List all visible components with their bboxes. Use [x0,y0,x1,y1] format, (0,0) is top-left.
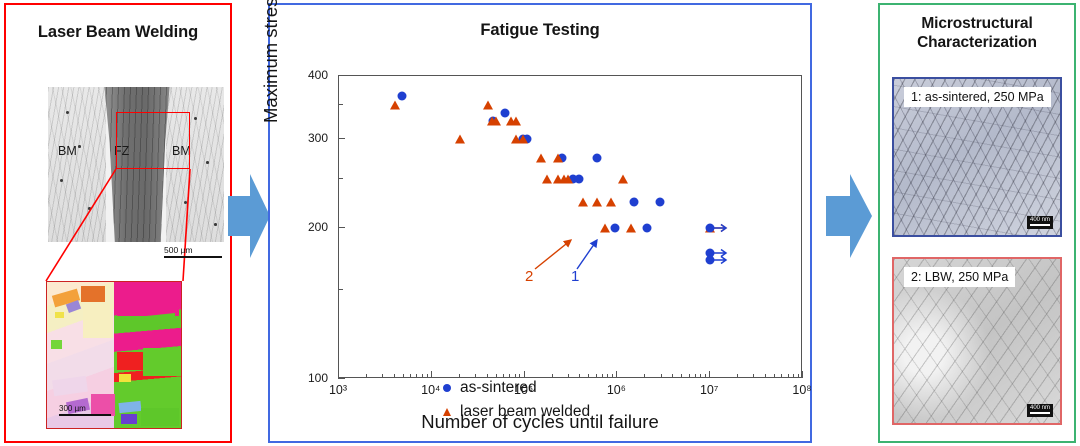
porosity-speck [194,117,197,120]
ebsd-grain [119,374,131,382]
chart-x-tick-minor [793,374,794,378]
chart-point-laser-beam-welded [536,153,546,162]
chart-x-tick-minor [661,374,662,378]
chart-x-tick-minor [612,374,613,378]
panel-title-micro-line1: Microstructural [880,15,1074,34]
tem-caption-1: 1: as-sintered, 250 MPa [904,87,1051,107]
chart-point-laser-beam-welded [606,197,616,206]
chart-x-tick-label: 10⁷ [700,383,718,397]
figure-root: Laser Beam Welding BM FZ BM 500 µm [0,0,1080,446]
chart-y-tick-minor [338,289,343,290]
tem-scale-bar-1: 400 nm [1027,216,1053,229]
chart-x-tick-label: 10⁸ [792,383,811,397]
chart-point-laser-beam-welded [491,117,501,126]
chart-point-as-sintered [643,223,652,232]
chart-y-tick-major [338,75,345,76]
tem-image-as-sintered: 1: as-sintered, 250 MPa 400 nm [892,77,1062,237]
scale-bar-ebsd-label: 300 µm [59,404,86,413]
chart-x-tick-minor [568,374,569,378]
ebsd-grain [83,304,113,338]
chart-x-tick-minor [382,374,383,378]
chart-annotation-arrows [339,76,803,379]
chart-point-as-sintered [592,153,601,162]
chart-x-tick-minor [753,374,754,378]
fatigue-chart: Fatigue Testing Maximum stress [MPa] Num… [268,3,812,443]
porosity-speck [60,179,63,182]
chart-x-tick-major [431,371,432,378]
tem-scale-line-1 [1030,224,1050,226]
chart-annotation-2: 2 [525,268,533,285]
arrow-fatigue-to-micro-icon [826,170,874,262]
chart-y-tick-label: 100 [308,371,328,385]
legend-label-laser-beam-welded: laser beam welded [460,400,590,424]
arrow-lbw-to-fatigue-icon [228,170,272,262]
porosity-speck [214,223,217,226]
scale-bar-ebsd-line [59,414,111,416]
chart-point-laser-beam-welded [592,197,602,206]
chart-y-axis-label: Maximum stress [MPa] [260,0,282,123]
chart-x-tick-minor [672,374,673,378]
ebsd-grain [117,352,143,370]
chart-x-tick-minor [475,374,476,378]
chart-y-tick-minor [338,104,343,105]
chart-x-tick-minor [496,374,497,378]
chart-x-tick-minor [503,374,504,378]
chart-x-tick-minor [681,374,682,378]
chart-x-tick-minor [737,374,738,378]
chart-x-tick-minor [607,374,608,378]
tem-scale-bar-2: 400 nm [1027,404,1053,417]
legend-item-laser-beam-welded: laser beam welded [443,400,590,424]
chart-point-as-sintered [611,223,620,232]
chart-x-tick-major [338,371,339,378]
chart-point-laser-beam-welded [542,174,552,183]
scale-bar-macro: 500 µm [164,245,222,258]
base-metal-left-region [48,87,106,242]
chart-y-tick-major [338,227,345,228]
chart-x-tick-minor [416,374,417,378]
legend-marker-triangle-icon [443,408,451,416]
chart-point-laser-beam-welded [618,174,628,183]
chart-y-tick-label: 300 [308,131,328,145]
chart-point-laser-beam-welded [626,223,636,232]
chart-runout-arrow-icon [711,223,733,233]
scale-bar-macro-line [164,256,222,258]
legend-marker-circle-icon [443,384,451,392]
ebsd-grain [117,382,175,402]
chart-x-tick-minor [394,374,395,378]
chart-point-laser-beam-welded [553,153,563,162]
chart-point-laser-beam-welded [390,101,400,110]
chart-point-as-sintered [575,174,584,183]
scale-bar-ebsd: 300 µm [59,404,111,416]
panel-title-lbw: Laser Beam Welding [6,23,230,42]
chart-x-tick-minor [552,374,553,378]
chart-x-tick-major [616,371,617,378]
porosity-speck [78,145,81,148]
chart-point-laser-beam-welded [578,197,588,206]
chart-x-tick-label: 10³ [329,383,347,397]
chart-x-tick-minor [700,374,701,378]
chart-point-as-sintered [398,92,407,101]
porosity-speck [88,207,91,210]
chart-x-tick-minor [403,374,404,378]
chart-x-tick-minor [579,374,580,378]
chart-y-tick-label: 200 [308,220,328,234]
panel-laser-beam-welding: Laser Beam Welding BM FZ BM 500 µm [4,3,232,443]
tem-scale-line-2 [1030,412,1050,414]
chart-point-laser-beam-welded [518,134,528,143]
chart-x-tick-minor [644,374,645,378]
chart-x-tick-minor [459,374,460,378]
chart-annotation-1: 1 [571,268,579,285]
ebsd-grain [143,348,182,376]
chart-x-tick-major [802,371,803,378]
ebsd-grain [51,340,62,349]
chart-x-tick-minor [788,374,789,378]
tem-image-lbw: 2: LBW, 250 MPa 400 nm [892,257,1062,425]
chart-x-tick-minor [487,374,488,378]
chart-x-tick-minor [695,374,696,378]
chart-x-tick-label: 10⁶ [607,383,626,397]
chart-point-laser-beam-welded [600,223,610,232]
tem-scale-label-2: 400 nm [1030,405,1050,411]
chart-plot-area: 2 1 as-sintered laser beam welded [338,75,802,378]
chart-x-tick-minor [774,374,775,378]
panel-title-fatigue: Fatigue Testing [268,21,812,40]
chart-x-tick-major [524,371,525,378]
chart-point-laser-beam-welded [563,174,573,183]
chart-x-tick-minor [765,374,766,378]
chart-runout-arrow-icon [711,255,733,265]
ebsd-orientation-map: 300 µm [46,281,182,429]
chart-x-tick-label: 10⁵ [514,383,533,397]
roi-highlight-box [116,112,190,169]
chart-x-tick-minor [519,374,520,378]
chart-point-as-sintered [656,197,665,206]
porosity-speck [206,161,209,164]
chart-x-tick-minor [515,374,516,378]
panel-microstructural-characterization: Microstructural Characterization 1: as-s… [878,3,1076,443]
chart-x-tick-minor [596,374,597,378]
chart-point-laser-beam-welded [455,134,465,143]
chart-x-tick-minor [689,374,690,378]
scale-bar-macro-label: 500 µm [164,245,193,255]
chart-y-tick-major [338,378,345,379]
chart-point-as-sintered [629,197,638,206]
chart-x-tick-minor [366,374,367,378]
chart-x-tick-minor [509,374,510,378]
ebsd-grain [55,312,64,318]
chart-x-tick-major [709,371,710,378]
ebsd-grain [81,286,105,302]
tem-scale-label-1: 400 nm [1030,217,1050,223]
porosity-speck [184,201,187,204]
chart-x-tick-label: 10⁴ [421,383,440,397]
chart-point-laser-beam-welded [483,101,493,110]
chart-x-tick-minor [798,374,799,378]
chart-x-tick-minor [602,374,603,378]
chart-x-tick-minor [588,374,589,378]
chart-x-tick-minor [427,374,428,378]
ebsd-grain [117,286,179,316]
chart-x-tick-minor [705,374,706,378]
panel-title-micro: Microstructural Characterization [880,15,1074,53]
tem-caption-2: 2: LBW, 250 MPa [904,267,1015,287]
weld-label-bm-left: BM [58,144,77,158]
chart-y-tick-label: 400 [308,68,328,82]
ebsd-grain [141,408,179,426]
porosity-speck [66,111,69,114]
chart-y-tick-major [338,138,345,139]
chart-x-tick-minor [781,374,782,378]
ebsd-grain [121,414,137,424]
chart-y-tick-minor [338,178,343,179]
panel-title-micro-line2: Characterization [880,34,1074,53]
chart-x-tick-minor [410,374,411,378]
macro-top-edge [48,83,224,87]
chart-x-tick-minor [422,374,423,378]
chart-point-laser-beam-welded [511,117,521,126]
